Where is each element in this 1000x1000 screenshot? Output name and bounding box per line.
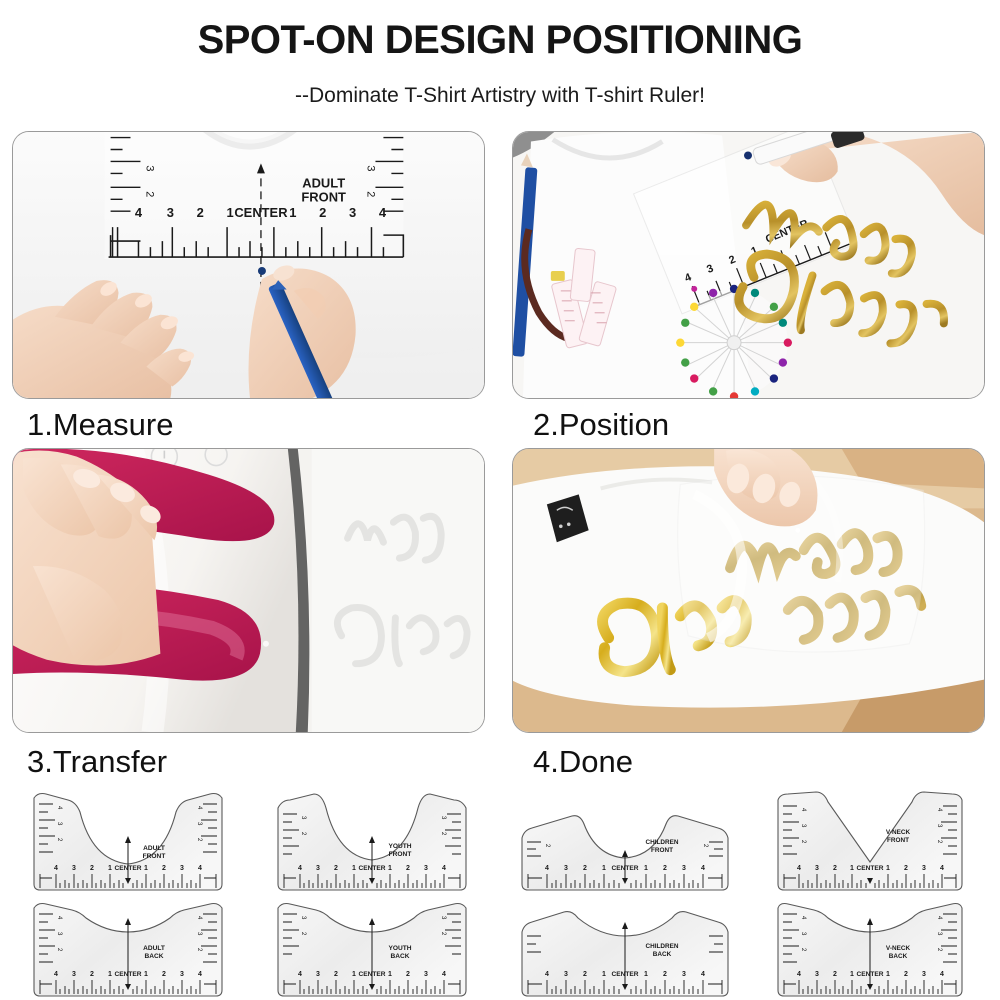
svg-text:1: 1 [144, 971, 148, 978]
svg-text:4: 4 [940, 971, 944, 978]
step-label-transfer: 3.Transfer [27, 744, 167, 780]
svg-text:2: 2 [334, 865, 338, 872]
svg-text:1: 1 [850, 971, 854, 978]
svg-text:3: 3 [424, 971, 428, 978]
photo-transfer [12, 448, 485, 733]
svg-text:1: 1 [144, 865, 148, 872]
svg-text:1: 1 [352, 865, 356, 872]
svg-text:3: 3 [180, 971, 184, 978]
svg-text:2: 2 [364, 191, 376, 197]
svg-text:2: 2 [833, 971, 837, 978]
svg-text:2: 2 [904, 865, 908, 872]
ruler-center-label: CENTER [358, 971, 385, 978]
svg-text:2: 2 [406, 865, 410, 872]
svg-text:3: 3 [316, 971, 320, 978]
ruler-children-front: 2 2 CHILDREN FRONT CENTER 4321 1234 [516, 786, 734, 894]
svg-text:1: 1 [226, 205, 233, 220]
svg-text:2: 2 [319, 205, 326, 220]
svg-text:3: 3 [72, 865, 76, 872]
svg-text:3: 3 [815, 865, 819, 872]
photo-position: 43 21 CENTER [512, 131, 985, 399]
svg-text:2: 2 [663, 865, 667, 872]
ruler-size-line2: BACK [390, 953, 409, 960]
svg-text:2: 2 [197, 205, 204, 220]
svg-text:4: 4 [379, 205, 387, 220]
ruler-size-line1: ADULT [143, 845, 165, 852]
svg-text:2: 2 [833, 865, 837, 872]
svg-text:2: 2 [583, 865, 587, 872]
svg-text:2: 2 [904, 971, 908, 978]
step-label-measure: 1.Measure [27, 407, 173, 443]
svg-text:1: 1 [644, 971, 648, 978]
svg-text:3: 3 [143, 165, 155, 171]
ruler-size-line2: FRONT [389, 851, 412, 858]
svg-text:3: 3 [922, 971, 926, 978]
ruler-vneck-front: 4 3 2 4 3 2 V-NECK FRONT CENTER 4321 123… [772, 786, 968, 894]
svg-text:3: 3 [682, 971, 686, 978]
svg-text:2: 2 [406, 971, 410, 978]
step-label-done: 4.Done [533, 744, 633, 780]
svg-text:1: 1 [850, 865, 854, 872]
ruler-center-label: CENTER [234, 205, 288, 220]
svg-text:1: 1 [289, 205, 296, 220]
svg-text:3: 3 [316, 865, 320, 872]
svg-text:2: 2 [663, 971, 667, 978]
svg-text:4: 4 [545, 865, 549, 872]
ruler-youth-front: 3 2 3 2 YOUTH FRONT CENTER 4321 1234 [272, 786, 472, 894]
photo-transfer-illustration [13, 449, 484, 732]
svg-text:3: 3 [564, 865, 568, 872]
ruler-youth-back: 3 2 3 2 YOUTH BACK CENTER 4321 1234 [272, 898, 472, 1000]
ruler-youth-front-svg: 3 2 3 2 YOUTH FRONT CENTER 4321 1234 [272, 786, 472, 894]
svg-text:4: 4 [797, 865, 801, 872]
ruler-youth-back-svg: 3 2 3 2 YOUTH BACK CENTER 4321 1234 [272, 898, 472, 1000]
svg-text:1: 1 [602, 865, 606, 872]
svg-text:3: 3 [180, 865, 184, 872]
ruler-size-line2: BACK [889, 953, 908, 960]
ruler-size-line1: V-NECK [886, 829, 911, 836]
ruler-center-label: CENTER [856, 865, 883, 872]
ruler-children-back-svg: CHILDREN BACK CENTER 4321 1234 [516, 898, 734, 1000]
ruler-adult-back-svg: 4 3 2 4 3 2 ADULT BACK CENTER 4321 [28, 898, 228, 1000]
photo-done-illustration [513, 449, 984, 732]
svg-text:2: 2 [90, 971, 94, 978]
ruler-adult-front: 4 3 2 4 3 2 ADULT FRONT CENTER 4321 [28, 786, 228, 894]
ruler-center-label: CENTER [358, 865, 385, 872]
svg-text:3: 3 [922, 865, 926, 872]
infographic-page: SPOT-ON DESIGN POSITIONING --Dominate T-… [0, 0, 1000, 1000]
svg-text:4: 4 [442, 865, 446, 872]
ruler-size-line1: V-NECK [886, 945, 911, 952]
svg-text:3: 3 [682, 865, 686, 872]
ruler-size-line1: YOUTH [388, 843, 411, 850]
svg-text:3: 3 [564, 971, 568, 978]
svg-text:1: 1 [602, 971, 606, 978]
svg-text:3: 3 [167, 205, 174, 220]
svg-text:4: 4 [198, 865, 202, 872]
svg-text:4: 4 [797, 971, 801, 978]
svg-text:1: 1 [644, 865, 648, 872]
ruler-center-label: CENTER [611, 971, 638, 978]
ruler-size-line2: FRONT [651, 847, 673, 854]
ruler-center-label: CENTER [114, 971, 141, 978]
svg-text:1: 1 [108, 865, 112, 872]
photo-done [512, 448, 985, 733]
svg-text:4: 4 [940, 865, 944, 872]
ruler-size-line2: BACK [653, 951, 672, 958]
ruler-size-line2: FRONT [143, 853, 166, 860]
svg-text:2: 2 [90, 865, 94, 872]
photo-measure-illustration: 3 2 3 2 4 3 2 1 1 [13, 132, 484, 398]
ruler-size-line2: BACK [144, 953, 163, 960]
svg-text:4: 4 [442, 971, 446, 978]
svg-text:3: 3 [364, 165, 376, 171]
svg-text:2: 2 [334, 971, 338, 978]
ruler-children-back: CHILDREN BACK CENTER 4321 1234 [516, 898, 734, 1000]
svg-text:2: 2 [162, 971, 166, 978]
svg-text:4: 4 [298, 865, 302, 872]
ruler-size-label-1: ADULT [302, 175, 345, 190]
svg-text:1: 1 [388, 865, 392, 872]
svg-text:4: 4 [54, 971, 58, 978]
ruler-center-label: CENTER [856, 971, 883, 978]
svg-text:3: 3 [424, 865, 428, 872]
ruler-size-label-2: FRONT [301, 189, 346, 204]
ruler-center-label: CENTER [611, 865, 638, 872]
svg-text:4: 4 [54, 865, 58, 872]
ruler-column-vneck: 4 3 2 4 3 2 V-NECK FRONT CENTER 4321 123… [772, 786, 968, 1000]
ruler-size-line1: ADULT [143, 945, 165, 952]
ruler-column-adult: 4 3 2 4 3 2 ADULT FRONT CENTER 4321 [28, 786, 228, 1000]
ruler-size-line1: CHILDREN [645, 943, 678, 950]
ruler-adult-front-svg: 4 3 2 4 3 2 ADULT FRONT CENTER 4321 [28, 786, 228, 894]
ruler-size-line1: CHILDREN [645, 839, 678, 846]
page-subtitle: --Dominate T-Shirt Artistry with T-shirt… [0, 84, 1000, 108]
svg-text:1: 1 [886, 865, 890, 872]
ruler-vneck-back-svg: 4 3 2 4 3 2 V-NECK BACK CENTER 4321 [772, 898, 968, 1000]
step-label-position: 2.Position [533, 407, 669, 443]
svg-text:2: 2 [162, 865, 166, 872]
svg-text:4: 4 [701, 865, 705, 872]
svg-text:1: 1 [388, 971, 392, 978]
svg-text:1: 1 [886, 971, 890, 978]
svg-text:4: 4 [701, 971, 705, 978]
photo-position-illustration: 43 21 CENTER [513, 132, 984, 398]
svg-text:3: 3 [815, 971, 819, 978]
ruler-template-grid: 4 3 2 4 3 2 ADULT FRONT CENTER 4321 [0, 786, 1000, 1000]
svg-text:2: 2 [143, 191, 155, 197]
svg-text:1: 1 [352, 971, 356, 978]
ruler-column-youth: 3 2 3 2 YOUTH FRONT CENTER 4321 1234 [272, 786, 472, 1000]
svg-text:4: 4 [198, 971, 202, 978]
svg-text:1: 1 [108, 971, 112, 978]
ruler-adult-back: 4 3 2 4 3 2 ADULT BACK CENTER 4321 [28, 898, 228, 1000]
svg-text:3: 3 [349, 205, 356, 220]
ruler-size-line2: FRONT [887, 837, 909, 844]
ruler-children-front-svg: 2 2 CHILDREN FRONT CENTER 4321 1234 [516, 786, 734, 894]
ruler-center-label: CENTER [114, 865, 141, 872]
ruler-vneck-front-svg: 4 3 2 4 3 2 V-NECK FRONT CENTER 4321 123… [772, 786, 968, 894]
photo-measure: 3 2 3 2 4 3 2 1 1 [12, 131, 485, 399]
svg-text:4: 4 [135, 205, 143, 220]
svg-text:2: 2 [583, 971, 587, 978]
svg-text:4: 4 [298, 971, 302, 978]
ruler-column-children: 2 2 CHILDREN FRONT CENTER 4321 1234 [516, 786, 734, 1000]
svg-text:3: 3 [72, 971, 76, 978]
svg-text:4: 4 [545, 971, 549, 978]
ruler-vneck-back: 4 3 2 4 3 2 V-NECK BACK CENTER 4321 [772, 898, 968, 1000]
page-title: SPOT-ON DESIGN POSITIONING [0, 18, 1000, 63]
ruler-size-line1: YOUTH [388, 945, 411, 952]
